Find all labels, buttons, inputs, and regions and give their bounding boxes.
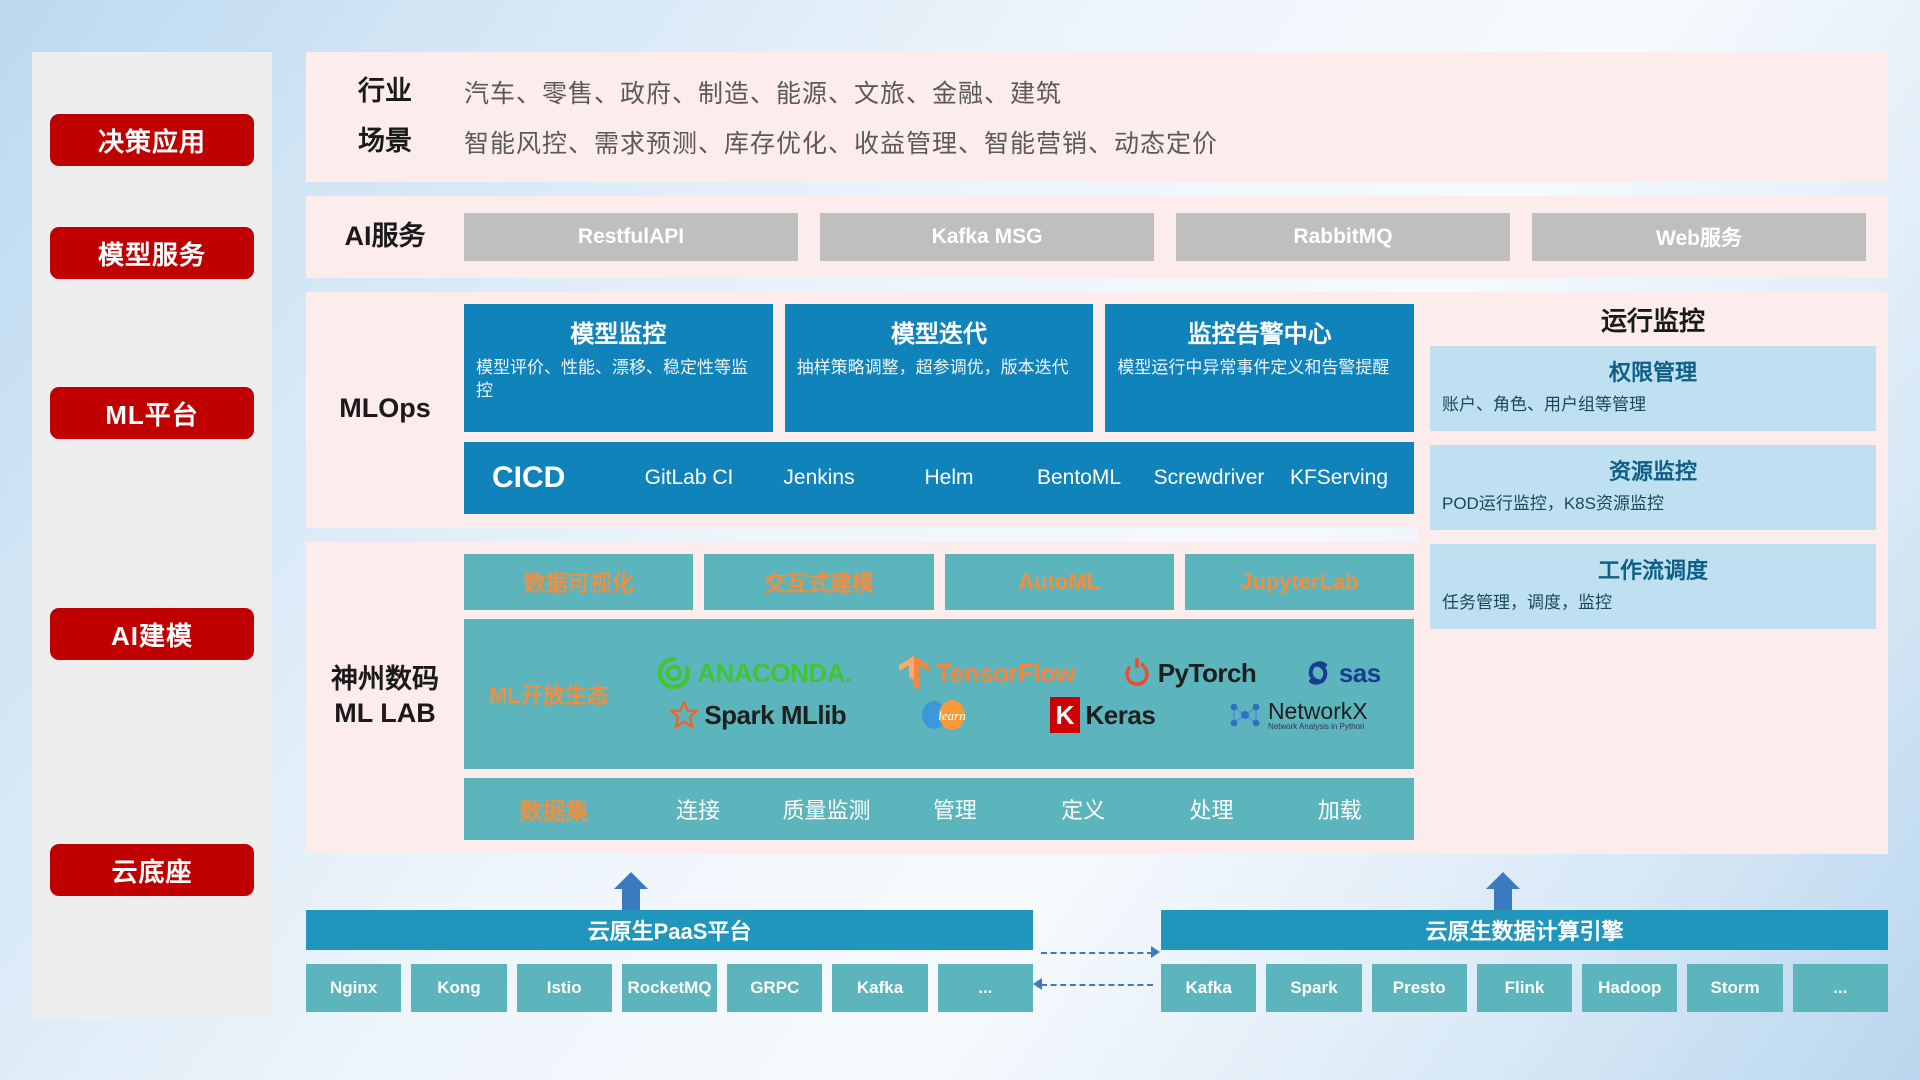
cicd-item-helm[interactable]: Helm: [884, 466, 1014, 489]
networkx-sublabel: Network Analysis in Python: [1268, 723, 1368, 731]
rail-item-decision-apps[interactable]: 决策应用: [50, 114, 254, 166]
mlops-card-alert-center[interactable]: 监控告警中心 模型运行中异常事件定义和告警提醒: [1105, 304, 1414, 432]
svg-text:K: K: [1055, 700, 1074, 730]
ai-service-band: AI服务 RestfulAPI Kafka MSG RabbitMQ Web服务: [306, 196, 1888, 278]
card-title: 工作流调度: [1442, 553, 1864, 585]
spark-mllib-label: Spark MLlib: [704, 700, 846, 731]
mlops-label: MLOps: [306, 304, 464, 514]
pytorch-label: PyTorch: [1158, 658, 1257, 689]
left-rail: 决策应用 模型服务 ML平台 AI建模 云底座: [32, 52, 272, 1020]
cicd-item-kfserving[interactable]: KFServing: [1274, 466, 1404, 489]
pytorch-icon: [1122, 656, 1152, 690]
paas-chip-rocketmq[interactable]: RocketMQ: [622, 964, 717, 1012]
dataset-item-management[interactable]: 管理: [891, 793, 1019, 825]
compute-chip-kafka[interactable]: Kafka: [1161, 964, 1256, 1012]
ai-service-chip-web-service[interactable]: Web服务: [1532, 213, 1866, 261]
band-divider: [306, 278, 1888, 292]
card-title: 监控告警中心: [1117, 314, 1402, 349]
dataset-item-connect[interactable]: 连接: [634, 793, 762, 825]
anaconda-icon: [657, 656, 691, 690]
dataset-item-quality-monitoring[interactable]: 质量监测: [762, 793, 890, 825]
cloud-base-section: 云原生PaaS平台 Nginx Kong Istio RocketMQ GRPC…: [306, 872, 1888, 1022]
compute-chip-hadoop[interactable]: Hadoop: [1582, 964, 1677, 1012]
rail-item-cloud-base[interactable]: 云底座: [50, 844, 254, 896]
monitor-card-permission[interactable]: 权限管理 账户、角色、用户组等管理: [1430, 346, 1876, 431]
link-arrow-right-icon: [1151, 946, 1160, 958]
lower-section: MLOps 模型监控 模型评价、性能、漂移、稳定性等监控 模型迭代 抽样策略调整…: [306, 292, 1888, 854]
runtime-monitoring-card-list: 权限管理 账户、角色、用户组等管理 资源监控 POD运行监控，K8S资源监控 工…: [1418, 346, 1888, 643]
networkx-logo: NetworkX Network Analysis in Python: [1228, 699, 1368, 731]
mlops-content: 模型监控 模型评价、性能、漂移、稳定性等监控 模型迭代 抽样策略调整，超参调优，…: [464, 304, 1418, 514]
mlops-band: MLOps 模型监控 模型评价、性能、漂移、稳定性等监控 模型迭代 抽样策略调整…: [306, 292, 1418, 528]
platform-column: MLOps 模型监控 模型评价、性能、漂移、稳定性等监控 模型迭代 抽样策略调整…: [306, 292, 1418, 854]
cicd-item-jenkins[interactable]: Jenkins: [754, 466, 884, 489]
keras-label: Keras: [1086, 700, 1156, 731]
spark-mllib-logo: Spark MLlib: [670, 700, 846, 731]
dataset-row: 数据集 连接 质量监测 管理 定义 处理 加载: [464, 778, 1414, 840]
cicd-title: CICD: [474, 461, 624, 495]
rail-item-model-service[interactable]: 模型服务: [50, 227, 254, 279]
cicd-row: CICD GitLab CI Jenkins Helm BentoML Scre…: [464, 442, 1414, 514]
scikit-learn-logo: learn scikit learn: [919, 698, 977, 732]
link-compute-to-paas: [1041, 984, 1153, 986]
compute-chip-list: Kafka Spark Presto Flink Hadoop Storm ..…: [1161, 964, 1888, 1012]
tool-chip-jupyterlab[interactable]: JupyterLab: [1185, 554, 1414, 610]
industry-line: 行业 汽车、零售、政府、制造、能源、文旅、金融、建筑: [306, 74, 1888, 110]
link-paas-to-compute: [1041, 952, 1153, 954]
anaconda-label: ANACONDA.: [697, 658, 851, 689]
ai-service-chip-kafka-msg[interactable]: Kafka MSG: [820, 213, 1154, 261]
ecosystem-logo-row-1: ANACONDA. TensorFlow: [634, 655, 1404, 691]
ai-modeling-band: 神州数码 ML LAB 数据可视化 交互式建模 AutoML JupyterLa…: [306, 542, 1418, 854]
paas-chip-list: Nginx Kong Istio RocketMQ GRPC Kafka ...: [306, 964, 1033, 1012]
paas-group: 云原生PaaS平台 Nginx Kong Istio RocketMQ GRPC…: [306, 910, 1033, 1012]
paas-up-arrow-icon: [614, 872, 648, 911]
svg-text:learn: learn: [938, 708, 965, 723]
sas-label: sas: [1339, 658, 1381, 689]
decision-apps-band: 行业 汽车、零售、政府、制造、能源、文旅、金融、建筑 场景 智能风控、需求预测、…: [306, 52, 1888, 182]
compute-chip-presto[interactable]: Presto: [1372, 964, 1467, 1012]
rail-item-ml-platform[interactable]: ML平台: [50, 387, 254, 439]
compute-up-arrow-icon: [1486, 872, 1520, 911]
card-desc: 模型运行中异常事件定义和告警提醒: [1117, 357, 1402, 380]
industry-label: 行业: [306, 75, 464, 109]
ai-service-chip-restfulapi[interactable]: RestfulAPI: [464, 213, 798, 261]
mlops-card-model-iteration[interactable]: 模型迭代 抽样策略调整，超参调优，版本迭代: [785, 304, 1094, 432]
ai-service-chip-list: RestfulAPI Kafka MSG RabbitMQ Web服务: [464, 213, 1888, 261]
ecosystem-logo-grid: ANACONDA. TensorFlow: [634, 619, 1414, 769]
runtime-monitoring-column: 运行监控 权限管理 账户、角色、用户组等管理 资源监控 POD运行监控，K8S资…: [1418, 292, 1888, 854]
industry-values: 汽车、零售、政府、制造、能源、文旅、金融、建筑: [464, 74, 1062, 110]
spark-star-icon: [670, 701, 698, 729]
card-title: 模型迭代: [797, 314, 1082, 349]
sas-icon: [1303, 658, 1333, 688]
card-desc: 账户、角色、用户组等管理: [1442, 394, 1864, 417]
scenario-values: 智能风控、需求预测、库存优化、收益管理、智能营销、动态定价: [464, 124, 1218, 160]
card-desc: 模型评价、性能、漂移、稳定性等监控: [476, 357, 761, 403]
rail-item-label: 云底座: [111, 852, 192, 889]
paas-chip-more[interactable]: ...: [938, 964, 1033, 1012]
card-title: 资源监控: [1442, 454, 1864, 486]
rail-item-label: 模型服务: [98, 235, 206, 272]
dataset-item-loading[interactable]: 加载: [1276, 793, 1404, 825]
monitor-card-workflow[interactable]: 工作流调度 任务管理，调度，监控: [1430, 544, 1876, 629]
rail-item-label: 决策应用: [98, 122, 206, 159]
scenario-label: 场景: [306, 125, 464, 159]
paas-chip-istio[interactable]: Istio: [517, 964, 612, 1012]
keras-icon: K: [1050, 697, 1080, 733]
architecture-main: 行业 汽车、零售、政府、制造、能源、文旅、金融、建筑 场景 智能风控、需求预测、…: [306, 52, 1888, 854]
ml-lab-content: 数据可视化 交互式建模 AutoML JupyterLab ML开放生态: [464, 554, 1418, 840]
ecosystem-label: ML开放生态: [464, 619, 634, 769]
band-divider: [306, 528, 1418, 542]
card-desc: POD运行监控，K8S资源监控: [1442, 493, 1864, 516]
mlops-card-model-monitoring[interactable]: 模型监控 模型评价、性能、漂移、稳定性等监控: [464, 304, 773, 432]
anaconda-logo: ANACONDA.: [657, 656, 851, 690]
compute-chip-spark[interactable]: Spark: [1266, 964, 1361, 1012]
tensorflow-label: TensorFlow: [936, 658, 1075, 689]
card-title: 模型监控: [476, 314, 761, 349]
compute-chip-flink[interactable]: Flink: [1477, 964, 1572, 1012]
rail-item-ai-modeling[interactable]: AI建模: [50, 608, 254, 660]
monitor-card-resource[interactable]: 资源监控 POD运行监控，K8S资源监控: [1430, 445, 1876, 530]
paas-title-bar: 云原生PaaS平台: [306, 910, 1033, 950]
paas-chip-kong[interactable]: Kong: [411, 964, 506, 1012]
card-desc: 抽样策略调整，超参调优，版本迭代: [797, 357, 1082, 380]
mlops-card-list: 模型监控 模型评价、性能、漂移、稳定性等监控 模型迭代 抽样策略调整，超参调优，…: [464, 304, 1414, 432]
dataset-item-definition[interactable]: 定义: [1019, 793, 1147, 825]
cicd-item-screwdriver[interactable]: Screwdriver: [1144, 466, 1274, 489]
tool-chip-interactive-modeling[interactable]: 交互式建模: [704, 554, 933, 610]
compute-title-bar: 云原生数据计算引擎: [1161, 910, 1888, 950]
dataset-item-processing[interactable]: 处理: [1147, 793, 1275, 825]
rail-item-label: AI建模: [111, 616, 193, 653]
compute-chip-storm[interactable]: Storm: [1687, 964, 1782, 1012]
link-arrow-left-icon: [1033, 978, 1042, 990]
paas-chip-grpc[interactable]: GRPC: [727, 964, 822, 1012]
rail-item-label: ML平台: [105, 395, 199, 432]
ml-lab-label: 神州数码 ML LAB: [306, 554, 464, 840]
cicd-item-gitlab-ci[interactable]: GitLab CI: [624, 466, 754, 489]
sas-logo: sas: [1303, 658, 1381, 689]
scikit-learn-icon: learn: [919, 698, 971, 732]
band-divider: [306, 182, 1888, 196]
ai-service-label: AI服务: [306, 220, 464, 254]
ml-open-ecosystem: ML开放生态 ANACONDA.: [464, 619, 1414, 769]
cicd-item-bentoml[interactable]: BentoML: [1014, 466, 1144, 489]
networkx-icon: [1228, 699, 1262, 731]
scenario-line: 场景 智能风控、需求预测、库存优化、收益管理、智能营销、动态定价: [306, 124, 1888, 160]
paas-chip-kafka[interactable]: Kafka: [832, 964, 927, 1012]
tensorflow-icon: [898, 655, 930, 691]
tensorflow-logo: TensorFlow: [898, 655, 1075, 691]
card-desc: 任务管理，调度，监控: [1442, 592, 1864, 615]
networkx-label: NetworkX: [1268, 700, 1368, 723]
runtime-monitoring-heading: 运行监控: [1418, 292, 1888, 346]
card-title: 权限管理: [1442, 355, 1864, 387]
ml-tool-row: 数据可视化 交互式建模 AutoML JupyterLab: [464, 554, 1414, 610]
ai-service-chip-rabbitmq[interactable]: RabbitMQ: [1176, 213, 1510, 261]
tool-chip-automl[interactable]: AutoML: [945, 554, 1174, 610]
ecosystem-logo-row-2: Spark MLlib learn scikit learn: [634, 697, 1404, 733]
tool-chip-data-visualization[interactable]: 数据可视化: [464, 554, 693, 610]
paas-chip-nginx[interactable]: Nginx: [306, 964, 401, 1012]
compute-chip-more[interactable]: ...: [1793, 964, 1888, 1012]
pytorch-logo: PyTorch: [1122, 656, 1257, 690]
dataset-title: 数据集: [474, 792, 634, 826]
keras-logo: K Keras: [1050, 697, 1156, 733]
compute-engine-group: 云原生数据计算引擎 Kafka Spark Presto Flink Hadoo…: [1161, 910, 1888, 1012]
